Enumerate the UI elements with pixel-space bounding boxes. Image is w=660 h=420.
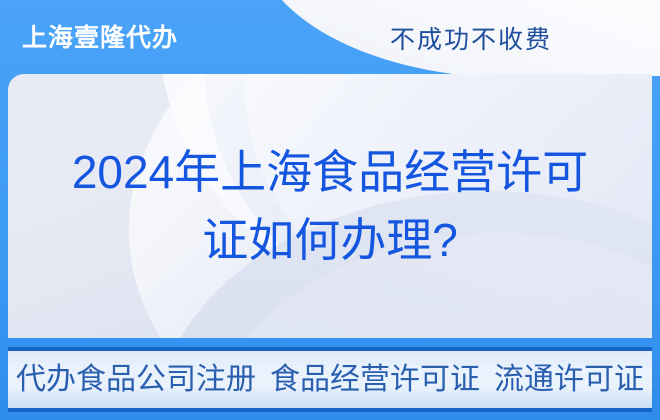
footer-keyword-2: 食品经营许可证 xyxy=(270,362,480,398)
footer-keyword-3: 流通许可证 xyxy=(494,362,644,398)
footer-keyword-1: 代办食品公司注册 xyxy=(16,362,256,398)
main-title-line-2: 证如何办理? xyxy=(202,213,458,267)
main-title-line-1: 2024年上海食品经营许可 xyxy=(72,145,588,199)
footer-keyword-list: 代办食品公司注册 食品经营许可证 流通许可证 xyxy=(16,362,644,398)
footer-keyword-bar: 代办食品公司注册 食品经营许可证 流通许可证 xyxy=(8,347,652,412)
main-title: 2024年上海食品经营许可 证如何办理? xyxy=(8,74,652,338)
brand-title: 上海壹隆代办 xyxy=(22,22,178,54)
header-slogan: 不成功不收费 xyxy=(390,24,552,56)
poster-root: 上海壹隆代办 不成功不收费 2024年上海食品经营许可 证如何办理? 代办食品公… xyxy=(0,0,660,420)
poster-header: 上海壹隆代办 不成功不收费 xyxy=(0,0,660,76)
content-panel: 2024年上海食品经营许可 证如何办理? xyxy=(8,74,652,338)
